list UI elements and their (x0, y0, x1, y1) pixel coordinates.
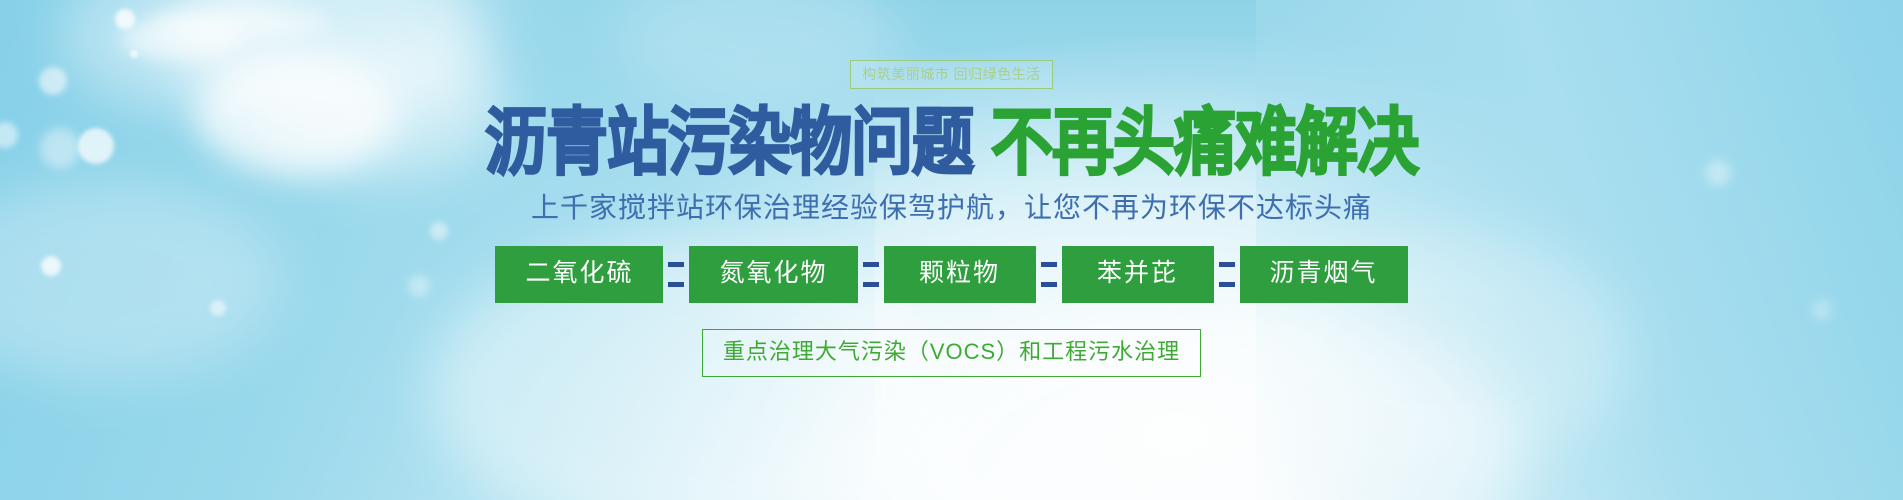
footer-note-badge: 重点治理大气污染（VOCS）和工程污水治理 (702, 329, 1201, 377)
page-title: 沥青站污染物问题 不再头痛难解决 (485, 106, 1418, 179)
hero-banner: 构筑美丽城市 回归绿色生活 沥青站污染物问题 不再头痛难解决 上千家搅拌站环保治… (0, 0, 1903, 500)
tag-separator-icon (858, 246, 884, 303)
banner-content: 构筑美丽城市 回归绿色生活 沥青站污染物问题 不再头痛难解决 上千家搅拌站环保治… (0, 0, 1903, 500)
pollutant-tag-row: 二氧化硫 氮氧化物 颗粒物 苯并芘 沥青烟气 (495, 246, 1407, 303)
subtitle: 上千家搅拌站环保治理经验保驾护航，让您不再为环保不达标头痛 (531, 194, 1372, 222)
tag-item[interactable]: 氮氧化物 (689, 246, 857, 303)
tag-separator-icon (1214, 246, 1240, 303)
tag-item[interactable]: 颗粒物 (884, 246, 1036, 303)
headline-primary: 沥青站污染物问题 (485, 106, 973, 179)
tagline-badge: 构筑美丽城市 回归绿色生活 (850, 60, 1052, 89)
tag-item[interactable]: 沥青烟气 (1240, 246, 1408, 303)
tag-separator-icon (1036, 246, 1062, 303)
headline-accent: 不再头痛难解决 (991, 106, 1418, 179)
tag-separator-icon (663, 246, 689, 303)
tag-item[interactable]: 二氧化硫 (495, 246, 663, 303)
tag-item[interactable]: 苯并芘 (1062, 246, 1214, 303)
